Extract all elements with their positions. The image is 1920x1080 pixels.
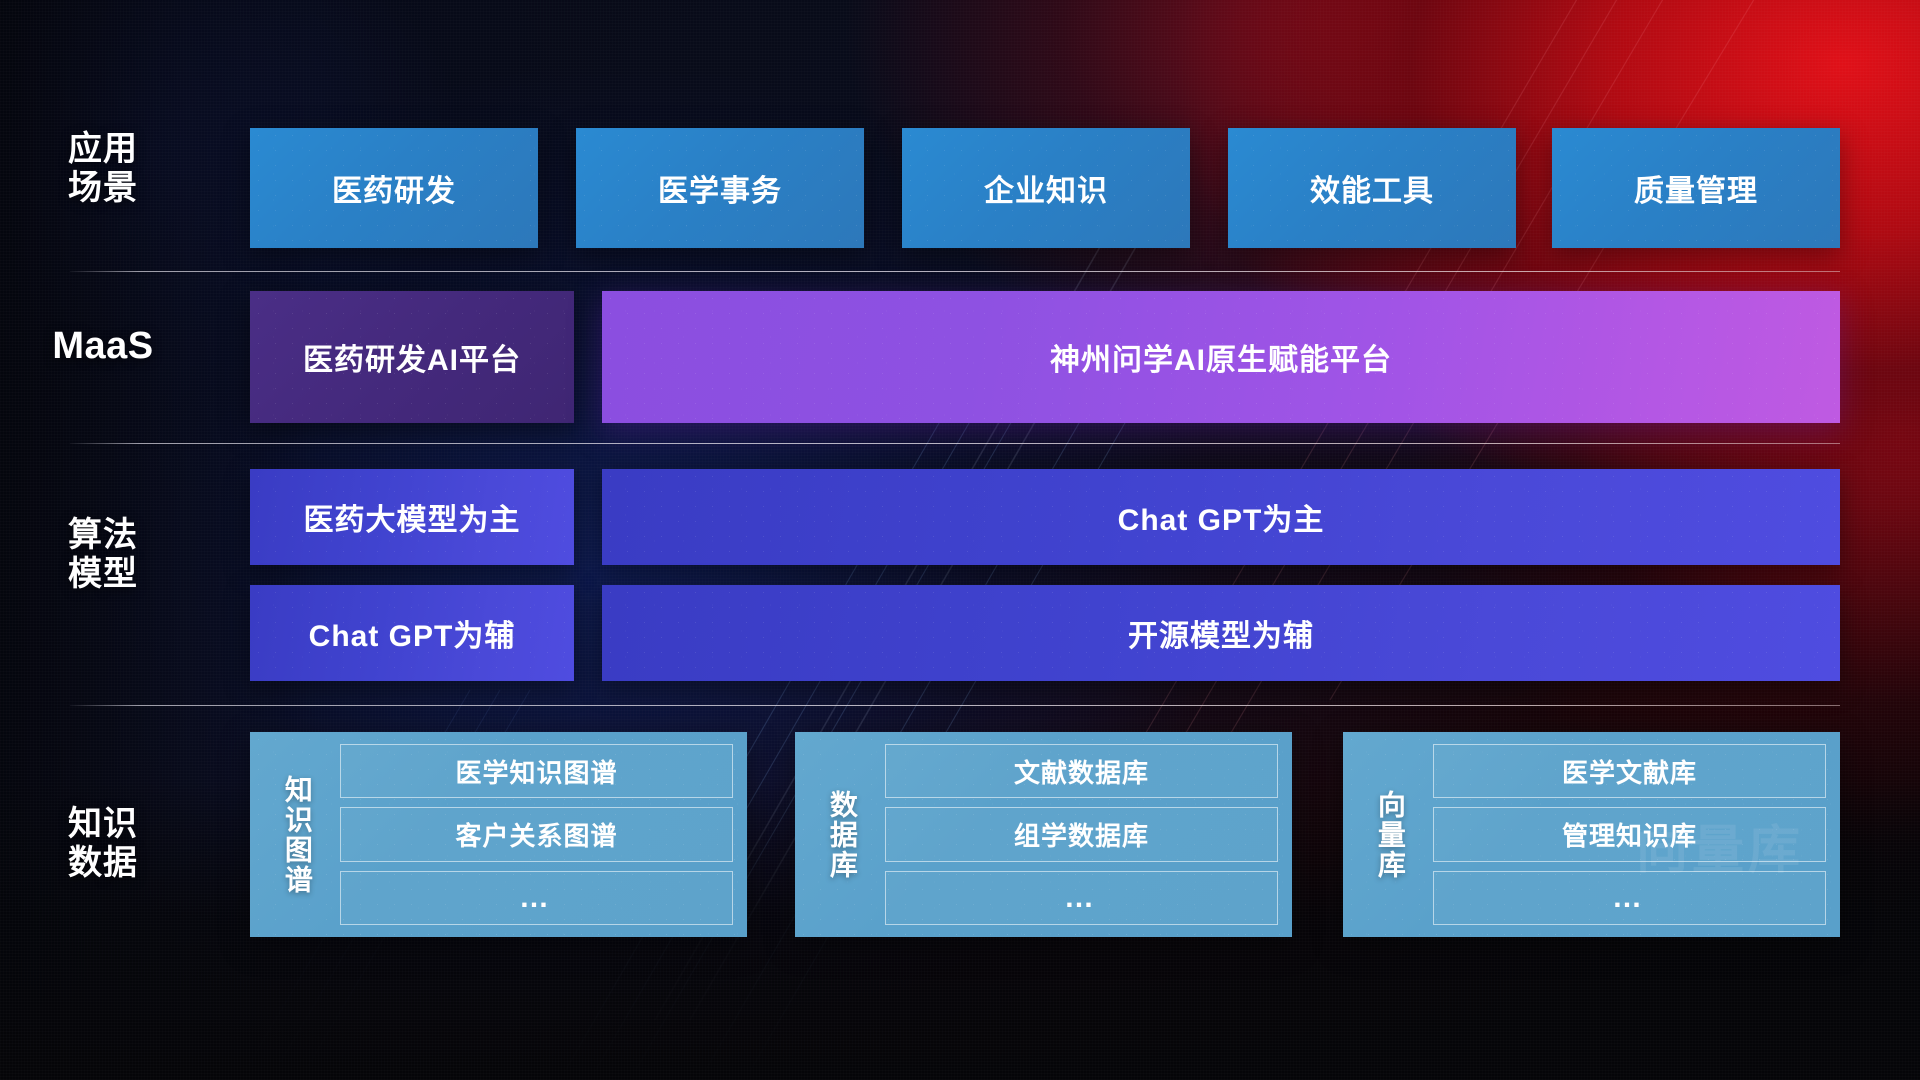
diagram-content: 应用 场景 医药研发 医学事务 企业知识 效能工具 质量管理 MaaS 医药研发… [0,0,1920,1080]
knowledge-panel-vector-store-items: 医学文献库 管理知识库 … [1427,744,1826,925]
app-card-efficiency-tools-label: 效能工具 [1310,166,1434,210]
row-label-maas: MaaS [28,324,178,368]
algo-card-chatgpt-primary-label: Chat GPT为主 [1118,495,1325,539]
knowledge-panel-database-vertical-label: 数据库 [805,744,879,925]
row-label-knowledge-data: 知识 数据 [28,805,178,884]
knowledge-item-omics-database[interactable]: 组学数据库 [885,807,1278,861]
app-card-enterprise-knowledge-label: 企业知识 [984,166,1108,210]
slide-canvas: 应用 场景 医药研发 医学事务 企业知识 效能工具 质量管理 MaaS 医药研发… [0,0,1920,1080]
divider-after-application-row [70,271,1840,272]
knowledge-item-customer-relation-graph[interactable]: 客户关系图谱 [340,807,733,861]
app-card-efficiency-tools[interactable]: 效能工具 [1228,128,1516,248]
algo-card-pharma-llm-primary-label: 医药大模型为主 [304,495,521,539]
algo-card-opensource-secondary[interactable]: 开源模型为辅 [602,585,1840,681]
app-card-enterprise-knowledge[interactable]: 企业知识 [902,128,1190,248]
knowledge-item-management-knowledge-store[interactable]: 管理知识库 [1433,807,1826,861]
algo-card-chatgpt-secondary[interactable]: Chat GPT为辅 [250,585,574,681]
app-card-medical-affairs-label: 医学事务 [658,166,782,210]
app-card-quality-management[interactable]: 质量管理 [1552,128,1840,248]
maas-card-pharma-ai-platform-label: 医药研发AI平台 [303,335,521,379]
knowledge-panel-database-items: 文献数据库 组学数据库 … [879,744,1278,925]
app-card-pharma-rnd-label: 医药研发 [332,166,456,210]
row-label-application-scenarios: 应用 场景 [28,130,178,209]
row-label-algorithm-model: 算法 模型 [28,516,178,595]
knowledge-item-literature-database[interactable]: 文献数据库 [885,744,1278,798]
app-card-quality-management-label: 质量管理 [1634,166,1758,210]
algo-card-opensource-secondary-label: 开源模型为辅 [1128,611,1314,655]
app-card-pharma-rnd[interactable]: 医药研发 [250,128,538,248]
maas-card-shenzhou-wenxue-platform[interactable]: 神州问学AI原生赋能平台 [602,291,1840,423]
maas-card-shenzhou-wenxue-platform-label: 神州问学AI原生赋能平台 [1050,335,1392,379]
knowledge-item-medical-knowledge-graph[interactable]: 医学知识图谱 [340,744,733,798]
knowledge-item-more-vector-store[interactable]: … [1433,871,1826,925]
algo-card-chatgpt-secondary-label: Chat GPT为辅 [309,611,516,655]
knowledge-panel-vector-store-vertical-label: 向量库 [1353,744,1427,925]
knowledge-panel-knowledge-graph-vertical-label: 知识图谱 [260,744,334,925]
knowledge-item-more-knowledge-graph[interactable]: … [340,871,733,925]
knowledge-panel-database[interactable]: 数据库 文献数据库 组学数据库 … [795,732,1292,937]
knowledge-panel-knowledge-graph[interactable]: 知识图谱 医学知识图谱 客户关系图谱 … [250,732,747,937]
knowledge-panel-vector-store[interactable]: 向量库 医学文献库 管理知识库 … 向量库 [1343,732,1840,937]
app-card-medical-affairs[interactable]: 医学事务 [576,128,864,248]
knowledge-panel-knowledge-graph-items: 医学知识图谱 客户关系图谱 … [334,744,733,925]
divider-after-algorithm-row [70,705,1840,706]
divider-after-maas-row [70,443,1840,444]
knowledge-item-more-database[interactable]: … [885,871,1278,925]
algo-card-chatgpt-primary[interactable]: Chat GPT为主 [602,469,1840,565]
algo-card-pharma-llm-primary[interactable]: 医药大模型为主 [250,469,574,565]
knowledge-item-medical-literature-store[interactable]: 医学文献库 [1433,744,1826,798]
maas-card-pharma-ai-platform[interactable]: 医药研发AI平台 [250,291,574,423]
